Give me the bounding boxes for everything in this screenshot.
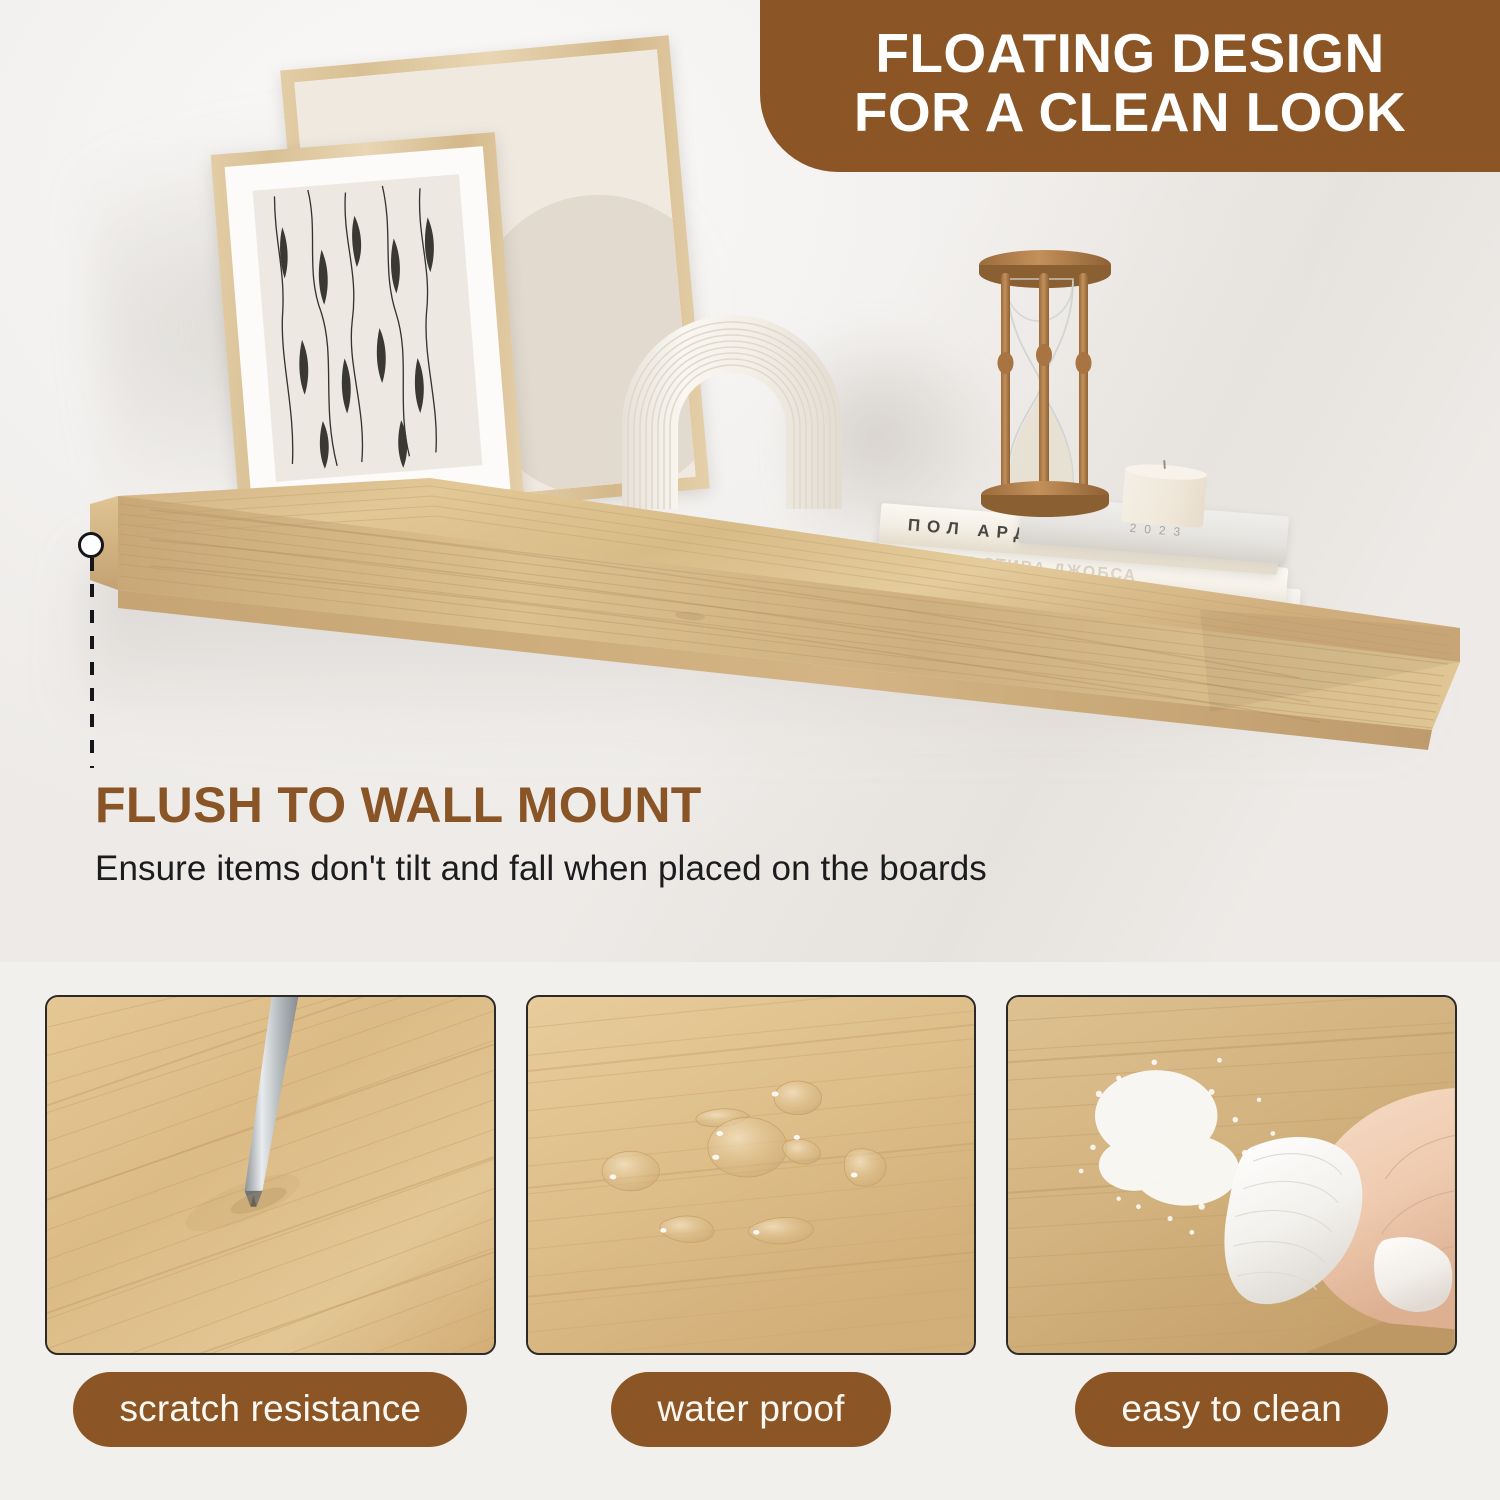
water-droplets-on-wood-svg <box>528 997 975 1353</box>
feature-panel-waterproof[interactable] <box>526 995 977 1355</box>
badge-scratch-resistance[interactable]: scratch resistance <box>73 1372 467 1447</box>
feature-panel-scratch[interactable] <box>45 995 496 1355</box>
banner-line-1: FLOATING DESIGN <box>875 24 1384 83</box>
artwork-brushstrokes <box>253 174 483 482</box>
floating-design-banner: FLOATING DESIGN FOR A CLEAN LOOK <box>760 0 1500 172</box>
hero-title: FLUSH TO WALL MOUNT <box>95 778 987 833</box>
hero-subtitle: Ensure items don't tilt and fall when pl… <box>95 849 987 889</box>
feature-badges: scratch resistance water proof easy to c… <box>45 1372 1457 1447</box>
feature-panel-easy-clean[interactable] <box>1006 995 1457 1355</box>
screwdriver-on-wood-svg <box>47 997 494 1353</box>
features-section: scratch resistance water proof easy to c… <box>0 962 1500 1500</box>
brushstroke-art-svg <box>253 174 483 482</box>
badge-water-proof[interactable]: water proof <box>611 1372 890 1447</box>
badge-slot-2: water proof <box>526 1372 977 1447</box>
badge-easy-to-clean[interactable]: easy to clean <box>1075 1372 1388 1447</box>
badge-slot-3: easy to clean <box>1006 1372 1457 1447</box>
hand-wiping-wood-svg <box>1008 997 1455 1353</box>
floating-shelf-board <box>0 440 1500 800</box>
hero-section: УРОКИ СТИВА ДЖОБСА ПОЛ АРДЕН 2023 <box>0 0 1500 962</box>
hero-text-block: FLUSH TO WALL MOUNT Ensure items don't t… <box>95 778 987 889</box>
callout-dashed-line <box>90 558 94 768</box>
feature-panels <box>45 995 1457 1355</box>
callout-dot-icon <box>78 532 104 558</box>
banner-line-2: FOR A CLEAN LOOK <box>854 83 1406 142</box>
shelf-svg <box>0 440 1500 800</box>
badge-slot-1: scratch resistance <box>45 1372 496 1447</box>
